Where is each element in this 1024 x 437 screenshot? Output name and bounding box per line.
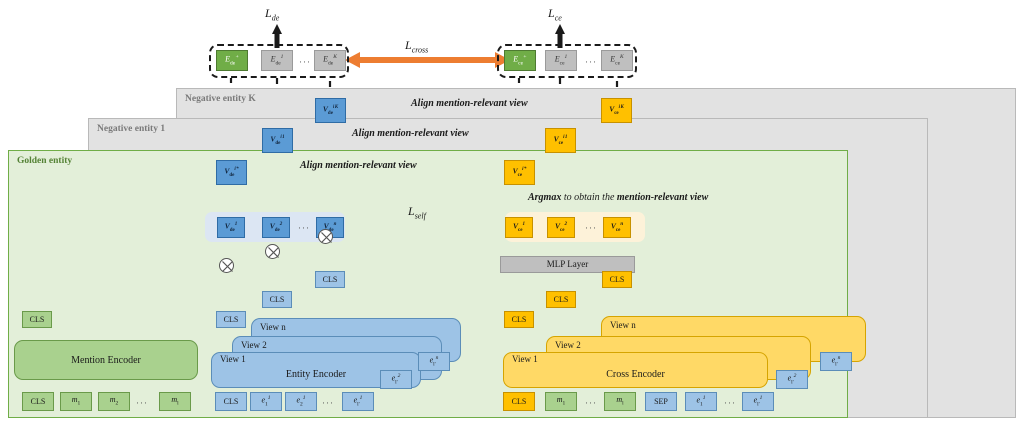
cls-label: CLS <box>512 316 527 324</box>
token-cross-entity-lprime[interactable]: el'1 <box>742 392 774 411</box>
token-cross-mention-l[interactable]: ml <box>604 392 636 411</box>
token-cross-entity-lprime-2[interactable]: el'2 <box>776 370 808 389</box>
cls-label: CLS <box>30 316 45 324</box>
panel-label-golden-entity: Golden entity <box>17 156 72 166</box>
loss-arrow-ce-head <box>555 24 565 34</box>
token-entity-cls[interactable]: CLS <box>215 392 247 411</box>
mlp-layer-label: MLP Layer <box>547 260 588 269</box>
view-1-label-cross: View 1 <box>512 354 538 364</box>
token-mention-l[interactable]: ml <box>159 392 191 411</box>
embedding-de-1[interactable]: Ede1 <box>261 50 293 71</box>
view-vector-de-k[interactable]: Vdei K <box>315 98 346 123</box>
embedding-ce-k[interactable]: EceK <box>601 50 633 71</box>
view-de-2[interactable]: Vde2 <box>262 217 290 238</box>
view-1-label-entity: View 1 <box>220 354 246 364</box>
cls-cross-viewn[interactable]: CLS <box>602 271 632 288</box>
cls-label: CLS <box>554 296 569 304</box>
annotation-align-1: Align mention-relevant view <box>352 128 469 139</box>
cls-label: CLS <box>270 296 285 304</box>
token-entity-1[interactable]: e11 <box>250 392 282 411</box>
view-n-label-entity: View n <box>260 322 286 332</box>
figure-canvas: Negative entity K Negative entity 1 Gold… <box>0 0 1024 437</box>
token-mention-cls[interactable]: CLS <box>22 392 54 411</box>
view-ce-ellipsis: ··· <box>585 223 597 233</box>
token-entity-ellipsis: ··· <box>322 398 334 408</box>
label-l-cross: Lcross <box>405 38 428 54</box>
tensor-node-2 <box>265 244 280 259</box>
label-l-de: Lde <box>265 6 279 22</box>
view-vector-de-star[interactable]: Vdei * <box>216 160 247 185</box>
view-vector-de-1[interactable]: Vdei 1 <box>262 128 293 153</box>
annotation-argmax: Argmax to obtain the mention-relevant vi… <box>528 192 708 203</box>
view-vector-ce-k[interactable]: Vcei K <box>601 98 632 123</box>
token-cross-sep[interactable]: SEP <box>645 392 677 411</box>
argmax-bold-1: Argmax <box>528 192 561 203</box>
panel-label-negative-entity-1: Negative entity 1 <box>97 124 165 134</box>
view-2-label-cross: View 2 <box>555 340 581 350</box>
view-ce-1[interactable]: Vce1 <box>505 217 533 238</box>
cls-label: CLS <box>323 276 338 284</box>
argmax-middle: to obtain the <box>561 192 617 203</box>
cls-entity-viewn[interactable]: CLS <box>315 271 345 288</box>
panel-label-negative-entity-k: Negative entity K <box>185 94 256 104</box>
tensor-node-3 <box>318 229 333 244</box>
token-cross-ellipsis-2: ··· <box>724 398 736 408</box>
view-2-label-entity: View 2 <box>241 340 267 350</box>
token-mention-ellipsis: ··· <box>136 398 148 408</box>
tensor-node-1 <box>219 258 234 273</box>
annotation-align-k: Align mention-relevant view <box>411 98 528 109</box>
entity-encoder-label: Entity Encoder <box>286 369 346 380</box>
view-de-ellipsis: ··· <box>298 223 310 233</box>
token-cross-entity-lprime-n[interactable]: el'n <box>820 352 852 371</box>
label-l-ce: Lce <box>548 6 562 22</box>
token-cross-ellipsis-1: ··· <box>585 398 597 408</box>
cls-entity-view2[interactable]: CLS <box>262 291 292 308</box>
embedding-ce-positive[interactable]: Ece+ <box>504 50 536 71</box>
token-cross-mention-1[interactable]: m1 <box>545 392 577 411</box>
embedding-de-ellipsis: ··· <box>299 57 311 67</box>
token-cross-entity-1[interactable]: e11 <box>685 392 717 411</box>
embedding-ce-ellipsis: ··· <box>585 57 597 67</box>
loss-arrow-de-head <box>272 24 282 34</box>
cross-encoder-label: Cross Encoder <box>606 369 665 380</box>
label-l-self: Lself <box>408 204 426 220</box>
annotation-align-star: Align mention-relevant view <box>300 160 417 171</box>
view-ce-2[interactable]: Vce2 <box>547 217 575 238</box>
token-mention-1[interactable]: m1 <box>60 392 92 411</box>
embedding-de-k[interactable]: EdeK <box>314 50 346 71</box>
token-entity-2[interactable]: e21 <box>285 392 317 411</box>
cls-label: CLS <box>224 316 239 324</box>
token-entity-lprime-n[interactable]: el'n <box>418 352 450 371</box>
cls-cross-view2[interactable]: CLS <box>546 291 576 308</box>
view-de-1[interactable]: Vde1 <box>217 217 245 238</box>
embedding-ce-1[interactable]: Ece1 <box>545 50 577 71</box>
embedding-de-positive[interactable]: Ede+ <box>216 50 248 71</box>
token-cross-cls[interactable]: CLS <box>503 392 535 411</box>
mention-encoder[interactable]: Mention Encoder <box>14 340 198 380</box>
cls-entity-view1[interactable]: CLS <box>216 311 246 328</box>
cross-encoder-view-1[interactable]: View 1 Cross Encoder <box>503 352 768 388</box>
cls-mention[interactable]: CLS <box>22 311 52 328</box>
token-mention-2[interactable]: m2 <box>98 392 130 411</box>
token-entity-lprime[interactable]: el'1 <box>342 392 374 411</box>
view-vector-ce-star[interactable]: Vcei * <box>504 160 535 185</box>
mention-encoder-label: Mention Encoder <box>71 355 141 366</box>
view-vector-ce-1[interactable]: Vcei 1 <box>545 128 576 153</box>
view-n-label-cross: View n <box>610 320 636 330</box>
argmax-bold-2: mention-relevant view <box>617 192 708 203</box>
cls-cross-view1[interactable]: CLS <box>504 311 534 328</box>
cls-label: CLS <box>610 276 625 284</box>
view-ce-n[interactable]: Vcen <box>603 217 631 238</box>
token-entity-lprime-2[interactable]: el'2 <box>380 370 412 389</box>
